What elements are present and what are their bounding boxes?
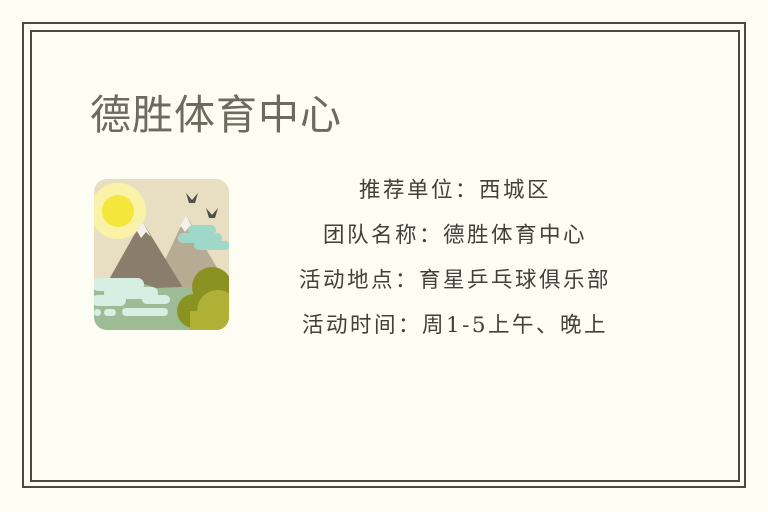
info-line-recommend-unit: 推荐单位：西城区 [250,168,660,213]
page-root: 德胜体育中心 [0,0,768,510]
info-line-team-name: 团队名称：德胜体育中心 [250,213,660,258]
info-text-block: 推荐单位：西城区 团队名称：德胜体育中心 活动地点：育星乒乓球俱乐部 活动时间：… [250,168,660,348]
card-content: 德胜体育中心 [64,64,768,512]
page-title: 德胜体育中心 [90,92,342,139]
info-line-activity-place: 活动地点：育星乒乓球俱乐部 [250,258,660,303]
info-line-activity-time: 活动时间：周1-5上午、晚上 [250,303,660,348]
frame-inner-border: 德胜体育中心 [30,30,740,482]
landscape-illustration [90,175,233,334]
